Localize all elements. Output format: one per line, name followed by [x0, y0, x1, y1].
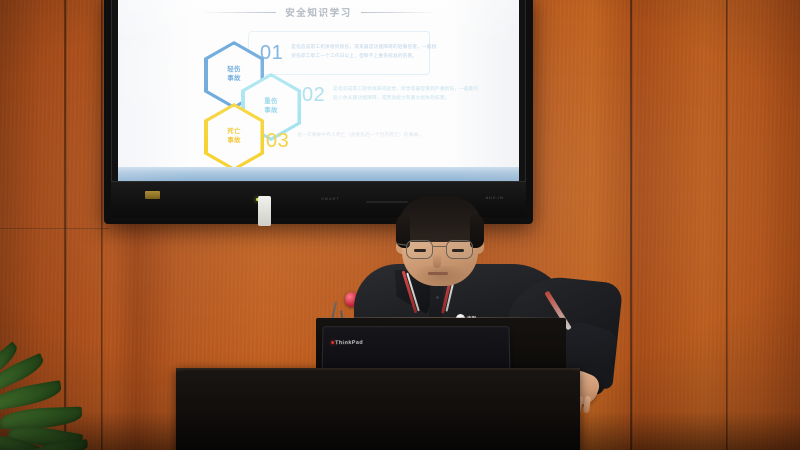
- presenter-eye-left: [414, 249, 426, 252]
- presenter-mouth: [428, 272, 448, 275]
- hex-label-serious-injury: 重伤事故: [264, 98, 278, 116]
- page-title: 安全知识学习: [285, 5, 352, 19]
- slide-footer-band: [118, 167, 519, 181]
- laptop-brand-label: ThinkPad: [335, 340, 363, 346]
- presenter-nose: [433, 254, 441, 268]
- presenter-eye-right: [452, 249, 464, 252]
- bullet-number-01: 01: [260, 43, 283, 63]
- glasses-bridge: [433, 246, 446, 247]
- shirt-button: [436, 296, 439, 299]
- bullet-text-01: 是指造成职工机体组织损伤，或某器官功能障碍的轻微伤害，一般指受伤职工歇工一个工作…: [291, 43, 441, 61]
- bullet-text-02: 是指造成职工肢体残缺或视觉、听觉等器官受到严重损伤，一般能引起人体长期功能障碍，…: [333, 85, 483, 103]
- slide-title-row: 安全知识学习: [118, 1, 519, 23]
- paper-card: [258, 196, 271, 226]
- bullet-number-03: 03: [266, 131, 289, 151]
- wall-mounted-display[interactable]: 安全知识学习 轻伤事故 重伤事故 死亡事故: [104, 0, 533, 224]
- conference-room-scene: 安全知识学习 轻伤事故 重伤事故 死亡事故: [0, 0, 800, 450]
- title-rule-left: [200, 12, 276, 13]
- floor-shadow: [0, 412, 800, 450]
- laptop-indicator-icon: [331, 341, 334, 344]
- presentation-screen: 安全知识学习 轻伤事故 重伤事故 死亡事故: [118, 0, 519, 181]
- bullet-item-01: 01 是指造成职工机体组织损伤，或某器官功能障碍的轻微伤害，一般指受伤职工歇工一…: [260, 43, 441, 63]
- bullet-text-03: 指一次事故中有人死亡（含受伤后一个月内死亡）的事故。: [297, 131, 423, 140]
- bullet-item-03: 03 指一次事故中有人死亡（含受伤后一个月内死亡）的事故。: [266, 131, 423, 151]
- title-rule-right: [361, 12, 437, 13]
- presenter-chin-shadow: [414, 266, 468, 288]
- bullet-item-02: 02 是指造成职工肢体残缺或视觉、听觉等器官受到严重损伤，一般能引起人体长期功能…: [302, 85, 483, 105]
- bullet-number-02: 02: [302, 85, 325, 105]
- hex-label-fatal-accident: 死亡事故: [227, 128, 241, 146]
- brand-tag: [145, 191, 160, 199]
- hex-label-minor-injury: 轻伤事故: [227, 66, 241, 84]
